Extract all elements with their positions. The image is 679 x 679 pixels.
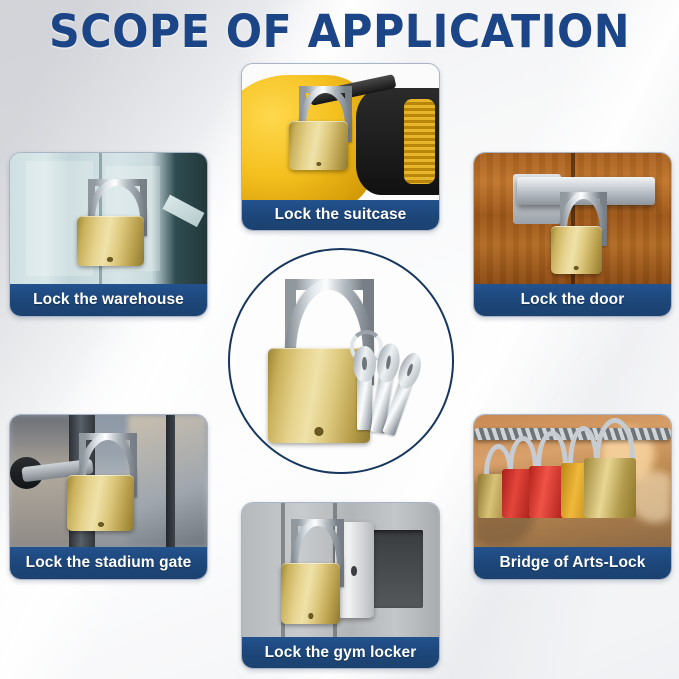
- card-door[interactable]: Lock the door: [473, 152, 672, 317]
- card-suitcase-label: Lock the suitcase: [242, 200, 439, 230]
- card-stadium-gate-label: Lock the stadium gate: [10, 547, 207, 579]
- card-bridge-label: Bridge of Arts-Lock: [474, 547, 671, 579]
- padlock-icon: [584, 418, 635, 518]
- card-gym-locker-label: Lock the gym locker: [242, 637, 439, 668]
- padlock-icon: [67, 433, 134, 531]
- card-gym-locker-photo: [242, 503, 439, 637]
- card-gym-locker[interactable]: Lock the gym locker: [241, 502, 440, 669]
- card-stadium-gate-photo: [10, 415, 207, 547]
- padlock-icon: [529, 431, 564, 518]
- padlock-icon: [289, 86, 348, 170]
- card-bridge-photo: [474, 415, 671, 547]
- key-ring-icon: [348, 330, 446, 459]
- card-door-label: Lock the door: [474, 284, 671, 316]
- padlock-icon: [77, 179, 144, 265]
- card-warehouse[interactable]: Lock the warehouse: [9, 152, 208, 317]
- card-suitcase[interactable]: Lock the suitcase: [241, 63, 440, 231]
- padlock-icon: [281, 519, 340, 624]
- padlock-icon: [551, 192, 602, 273]
- card-stadium-gate[interactable]: Lock the stadium gate: [9, 414, 208, 580]
- card-suitcase-photo: [242, 64, 439, 200]
- card-door-photo: [474, 153, 671, 284]
- card-bridge[interactable]: Bridge of Arts-Lock: [473, 414, 672, 580]
- center-product-medallion[interactable]: [228, 248, 454, 474]
- infographic-canvas: SCOPE OF APPLICATION Lock the warehouse: [0, 0, 679, 679]
- page-title: SCOPE OF APPLICATION: [17, 4, 662, 60]
- center-product-photo: [230, 250, 452, 472]
- card-warehouse-label: Lock the warehouse: [10, 284, 207, 316]
- card-warehouse-photo: [10, 153, 207, 284]
